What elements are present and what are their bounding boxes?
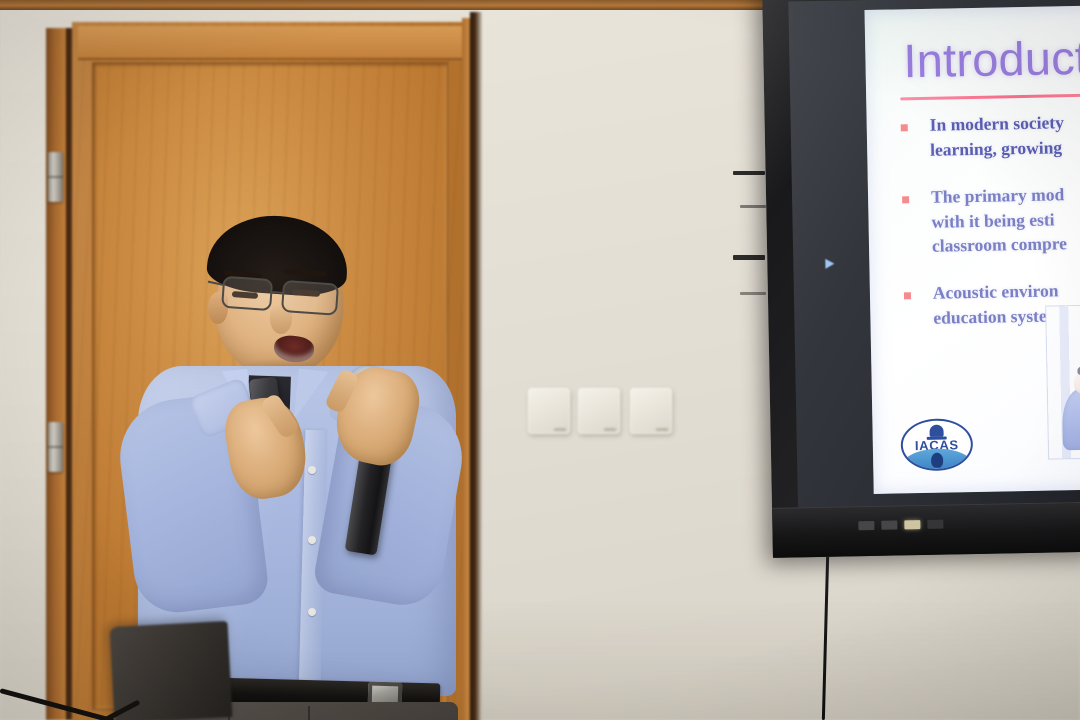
light-switch-1[interactable]	[528, 388, 570, 434]
presentation-room-scene: Introductio In modern society learning, …	[0, 0, 1080, 720]
door-top-rail	[78, 26, 462, 60]
eyeglass-temple	[208, 281, 223, 286]
bullet-square-icon	[901, 124, 908, 131]
wall-bracket-3	[733, 255, 765, 260]
dolphin-icon	[931, 453, 943, 468]
wall-mounted-display[interactable]: Introductio In modern society learning, …	[762, 0, 1080, 558]
slide-title: Introductio	[903, 29, 1080, 88]
bullet-text-2: The primary mod with it being esti class…	[931, 182, 1067, 259]
display-bottom-bezel	[772, 502, 1080, 558]
bullet-square-icon	[902, 196, 909, 203]
menu-button[interactable]	[904, 520, 920, 529]
eyeglass-bridge	[272, 291, 284, 294]
door-jamb	[46, 28, 68, 720]
slide-title-underline	[900, 93, 1080, 100]
eyeglass-lens-left	[221, 276, 273, 311]
presentation-slide[interactable]: Introductio In modern society learning, …	[864, 5, 1080, 494]
display-screen[interactable]: Introductio In modern society learning, …	[788, 0, 1080, 507]
shirt-button-2	[308, 536, 316, 544]
wall-bracket-2	[740, 205, 766, 208]
wall-bracket-1	[733, 171, 765, 175]
light-switch-2[interactable]	[578, 388, 620, 434]
slide-bullet-item-2: The primary mod with it being esti class…	[902, 178, 1080, 259]
door-edge-shadow	[470, 12, 482, 720]
slide-illustration-image	[1046, 303, 1080, 459]
iacas-logo: IACAS	[900, 418, 973, 471]
shirt-button-3	[308, 608, 316, 616]
display-control-buttons[interactable]	[858, 520, 943, 531]
trouser-pleat-2	[308, 706, 310, 720]
door-hinge-lower	[48, 422, 63, 472]
shirt-button-1	[308, 466, 316, 474]
light-switch-3[interactable]	[630, 388, 672, 434]
mouse-pointer-icon	[825, 259, 834, 269]
bullet-square-icon	[904, 292, 911, 299]
source-button[interactable]	[881, 521, 897, 530]
door-hinge-upper	[48, 152, 63, 202]
power-button[interactable]	[858, 521, 874, 530]
volume-button[interactable]	[927, 520, 943, 529]
slide-bullet-item-1: In modern society learning, growing	[900, 107, 1080, 163]
shirt-collar-right	[293, 369, 328, 424]
wall-base-shadow	[478, 600, 1080, 720]
bell-icon	[929, 425, 943, 437]
wall-bracket-4	[740, 292, 766, 295]
eyeglass-lens-right	[281, 280, 339, 316]
bullet-text-1: In modern society learning, growing	[929, 110, 1064, 162]
